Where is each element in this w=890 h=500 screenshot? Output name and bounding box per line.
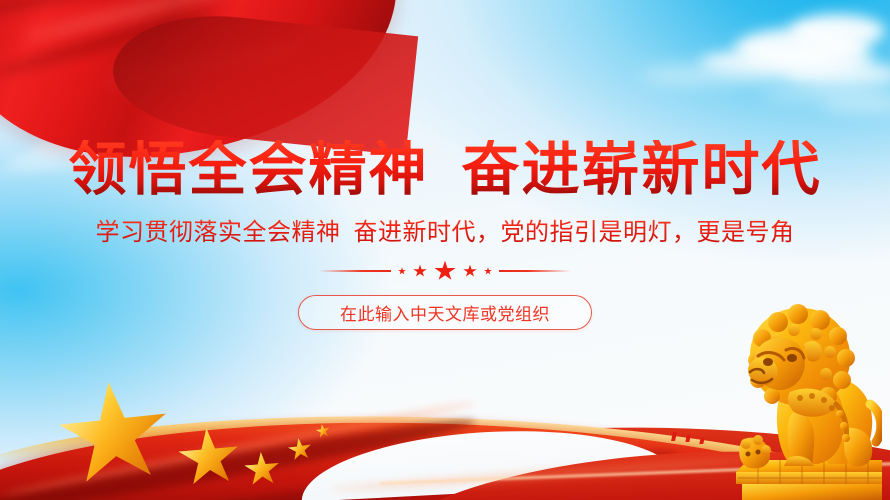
organization-input-button[interactable]: 在此输入中天文库或党组织 <box>298 295 592 330</box>
cta-row: 在此输入中天文库或党组织 <box>0 295 890 330</box>
page-title: 领悟全会精神 奋进崭新时代 <box>0 140 890 199</box>
divider-star-icon <box>434 261 456 282</box>
divider-star-icon <box>484 267 492 275</box>
divider-star-icon <box>413 265 427 278</box>
divider-line-right <box>499 270 571 272</box>
banner-content: 领悟全会精神 奋进崭新时代 学习贯彻落实全会精神 奋进新时代，党的指引是明灯，更… <box>0 0 890 330</box>
divider-star-icon <box>398 267 406 275</box>
divider-line-left <box>319 270 391 272</box>
star-divider <box>0 261 890 281</box>
divider-star-icon <box>463 265 477 278</box>
party-theme-banner: 领悟全会精神 奋进崭新时代 学习贯彻落实全会精神 奋进新时代，党的指引是明灯，更… <box>0 0 890 500</box>
page-subtitle: 学习贯彻落实全会精神 奋进新时代，党的指引是明灯，更是号角 <box>0 212 890 247</box>
